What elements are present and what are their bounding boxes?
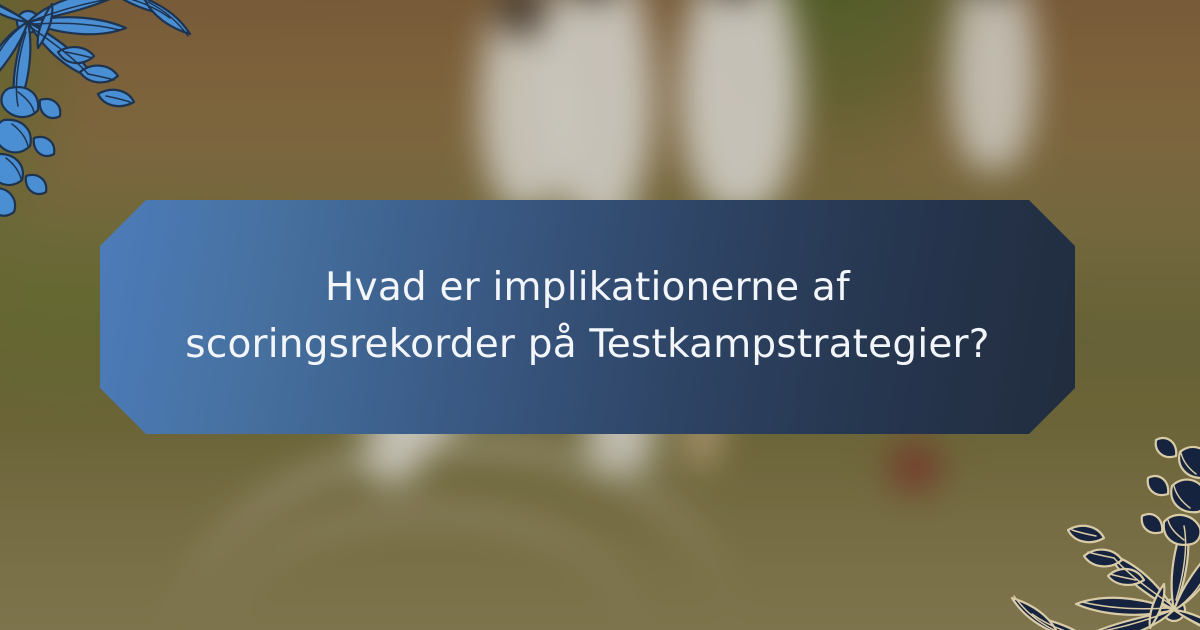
page-title: Hvad er implikationerne af scoringsrekor… (100, 260, 1075, 373)
social-card: Hvad er implikationerne af scoringsrekor… (0, 0, 1200, 630)
headline-banner: Hvad er implikationerne af scoringsrekor… (100, 200, 1075, 434)
